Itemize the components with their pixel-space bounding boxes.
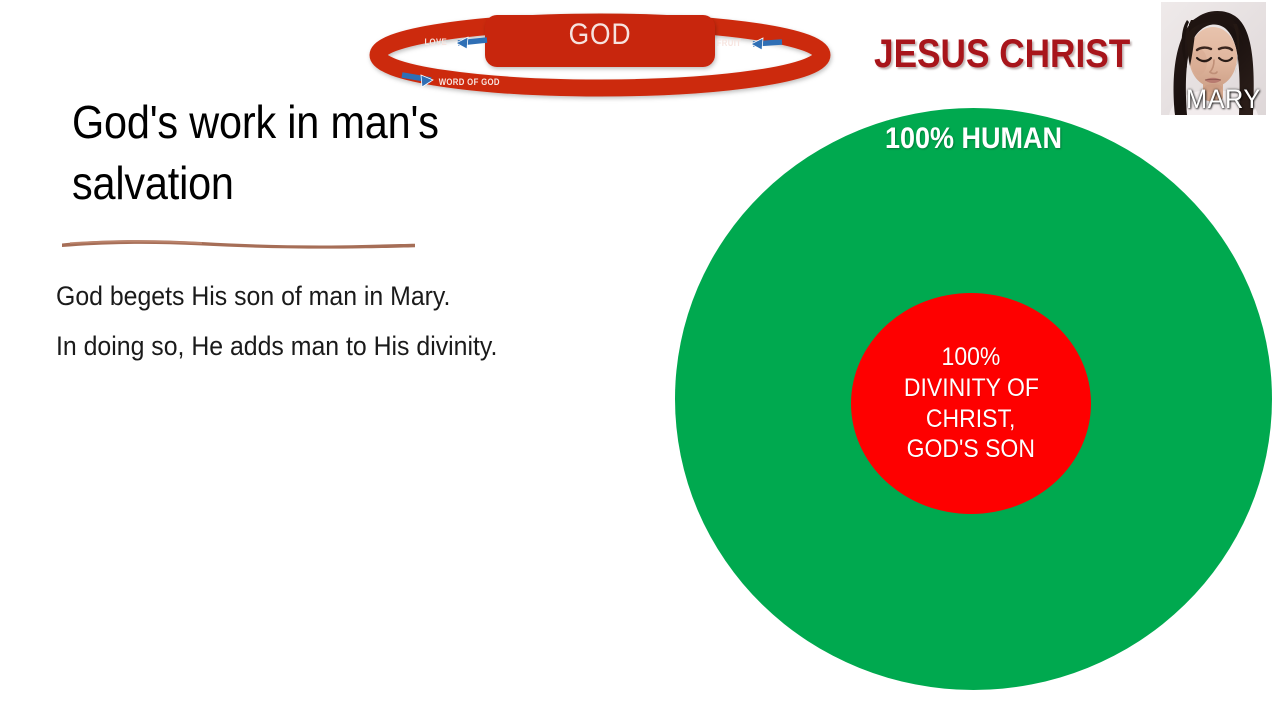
slide-canvas: GOD LOVE FRUIT WORD OF GOD God's work in… (0, 0, 1280, 720)
ring-label-love: LOVE (424, 37, 447, 48)
divinity-line-1: 100% (942, 342, 1001, 373)
body-text: God begets His son of man in Mary. In do… (56, 272, 626, 372)
divinity-circle: 100% DIVINITY OF CHRIST, GOD'S SON (851, 293, 1091, 514)
slide-title: God's work in man's salvation (72, 92, 495, 213)
divider-brushstroke (62, 238, 415, 251)
body-line-1: God begets His son of man in Mary. (56, 272, 626, 322)
god-banner-label: GOD (499, 18, 701, 52)
body-line-2: In doing so, He adds man to His divinity… (56, 322, 626, 372)
ring-label-fruit: FRUIT (717, 38, 742, 49)
human-circle-label: 100% HUMAN (705, 122, 1242, 156)
ring-label-word-of-god: WORD OF GOD (439, 77, 500, 88)
divinity-line-3: CHRIST, (926, 404, 1015, 435)
divinity-line-4: GOD'S SON (907, 434, 1035, 465)
god-diagram: GOD LOVE FRUIT WORD OF GOD (370, 2, 840, 98)
love-arrow-icon (456, 37, 487, 49)
jesus-christ-heading: JESUS CHRIST (874, 32, 1130, 77)
divider-icon (62, 238, 415, 251)
mary-caption: MARY (1186, 84, 1261, 115)
divinity-line-2: DIVINITY OF (903, 373, 1038, 404)
